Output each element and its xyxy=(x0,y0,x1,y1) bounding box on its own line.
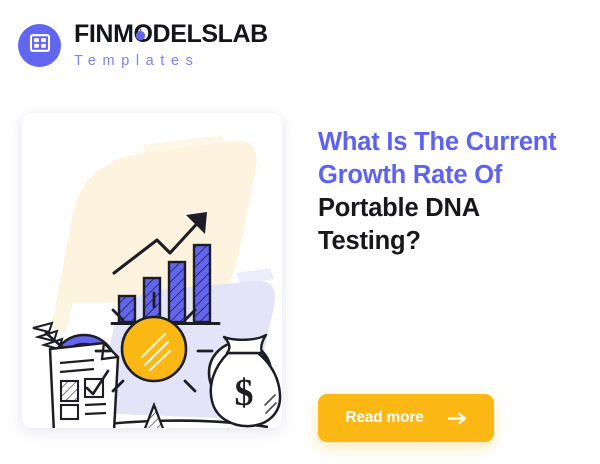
page-title: What Is The Current Growth Rate Of Porta… xyxy=(318,126,584,258)
brand-title-text: FINMODELSLAB xyxy=(74,20,268,48)
brand-text: FINMODELSLAB Templates xyxy=(74,22,268,69)
grid-squares-icon xyxy=(29,32,51,59)
brand-title: FINMODELSLAB xyxy=(74,22,268,47)
power-button-icon xyxy=(134,21,147,34)
arrow-right-icon xyxy=(448,412,467,425)
headline-dark-line-1: Portable DNA xyxy=(318,192,584,225)
headline-accent-line-1: What Is The Current xyxy=(318,126,584,159)
promo-card: FINMODELSLAB Templates xyxy=(0,0,600,464)
svg-text:$: $ xyxy=(235,372,254,414)
brand-logo[interactable]: FINMODELSLAB Templates xyxy=(18,22,268,69)
read-more-label: Read more xyxy=(345,409,423,427)
illustration-card: $ xyxy=(22,113,282,428)
brand-subtitle: Templates xyxy=(74,54,268,69)
business-growth-illustration: $ xyxy=(22,113,282,428)
headline-accent-line-2: Growth Rate Of xyxy=(318,159,584,192)
document-checklist-icon xyxy=(50,343,118,428)
read-more-button[interactable]: Read more xyxy=(318,394,494,442)
headline-dark-line-2: Testing? xyxy=(318,225,584,258)
logo-mark xyxy=(18,24,61,67)
